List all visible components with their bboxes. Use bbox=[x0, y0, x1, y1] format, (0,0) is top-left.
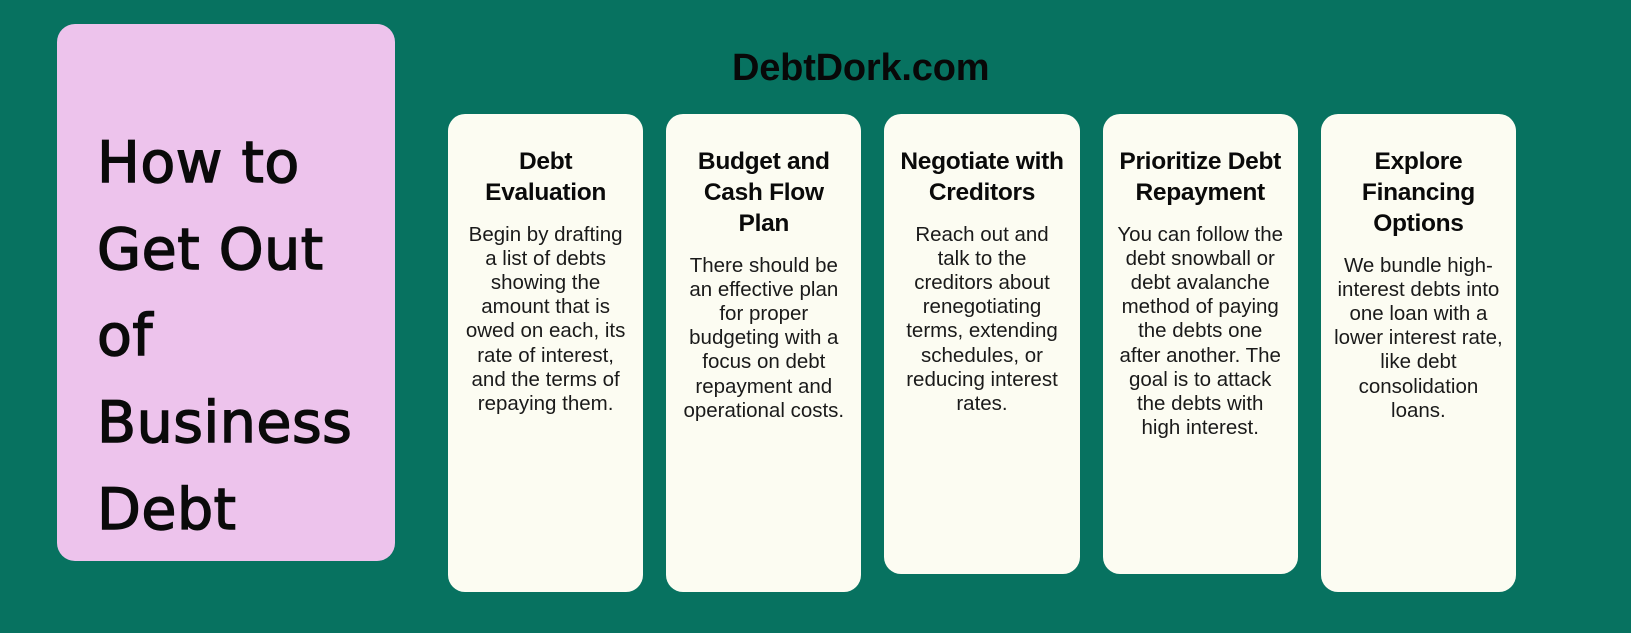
page-title: How to Get Out of Business Debt bbox=[97, 120, 361, 553]
step-card-negotiate-with-creditors: Negotiate with Creditors Reach out and t… bbox=[884, 114, 1079, 574]
step-card-title: Budget and Cash Flow Plan bbox=[679, 147, 848, 240]
infographic-canvas: How to Get Out of Business Debt DebtDork… bbox=[0, 0, 1631, 633]
step-card-body: Begin by drafting a list of debts showin… bbox=[461, 223, 630, 417]
step-card-prioritize-debt-repayment: Prioritize Debt Repayment You can follow… bbox=[1103, 114, 1298, 574]
step-card-budget-and-cash-flow-plan: Budget and Cash Flow Plan There should b… bbox=[666, 114, 861, 592]
step-card-body: We bundle high-interest debts into one l… bbox=[1334, 254, 1503, 423]
step-card-title: Explore Financing Options bbox=[1334, 147, 1503, 240]
brand-name: DebtDork.com bbox=[732, 47, 989, 90]
title-panel: How to Get Out of Business Debt bbox=[57, 24, 395, 561]
step-card-body: You can follow the debt snowball or debt… bbox=[1116, 223, 1285, 441]
steps-card-row: Debt Evaluation Begin by drafting a list… bbox=[448, 114, 1516, 592]
step-card-explore-financing-options: Explore Financing Options We bundle high… bbox=[1321, 114, 1516, 592]
step-card-title: Negotiate with Creditors bbox=[897, 147, 1066, 209]
step-card-title: Prioritize Debt Repayment bbox=[1116, 147, 1285, 209]
step-card-title: Debt Evaluation bbox=[461, 147, 630, 209]
step-card-body: Reach out and talk to the creditors abou… bbox=[897, 223, 1066, 417]
step-card-body: There should be an effective plan for pr… bbox=[679, 254, 848, 423]
step-card-debt-evaluation: Debt Evaluation Begin by drafting a list… bbox=[448, 114, 643, 592]
